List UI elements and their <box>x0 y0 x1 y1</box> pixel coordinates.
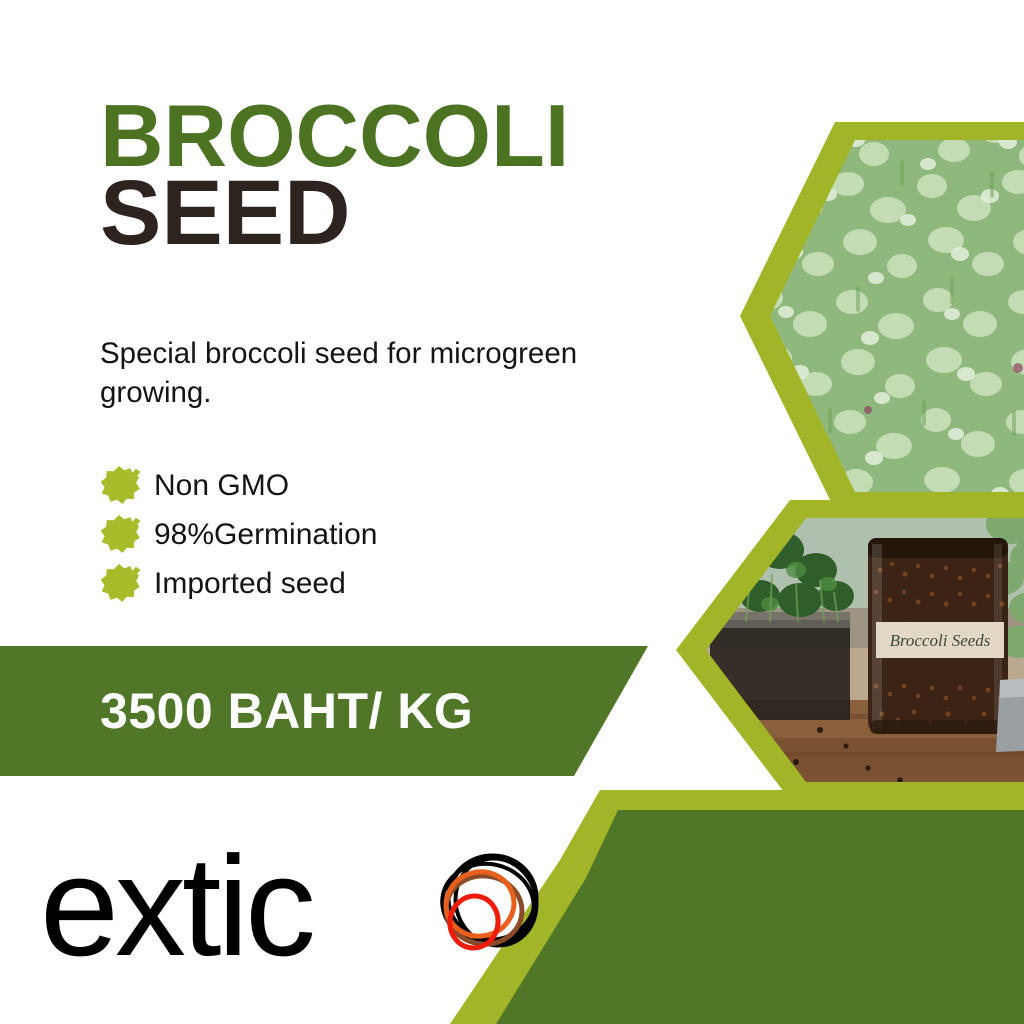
price-banner: 3500 BAHT/ KG <box>0 646 660 776</box>
feature-list: Non GMO 98%Germination Imported seed <box>96 462 616 609</box>
product-description: Special broccoli seed for microgreen gro… <box>100 334 690 412</box>
seed-jar-hexagon <box>676 500 1024 800</box>
brand-logo: extic <box>40 832 540 982</box>
check-badge-icon <box>96 513 142 557</box>
feature-label: 98%Germination <box>154 518 377 552</box>
price-label: 3500 BAHT/ KG <box>100 646 473 776</box>
list-item: Imported seed <box>96 560 616 608</box>
list-item: Non GMO <box>96 462 616 510</box>
list-item: 98%Germination <box>96 511 616 559</box>
feature-label: Imported seed <box>154 567 346 601</box>
logo-wordmark: extic <box>40 832 312 982</box>
microgreens-hexagon <box>740 122 1024 510</box>
check-badge-icon <box>96 562 142 606</box>
logo-scribble-o-icon <box>418 842 568 972</box>
poster-canvas: Broccoli Seeds <box>0 0 1024 1024</box>
page-title: BROCCOLI SEED <box>100 96 569 256</box>
feature-label: Non GMO <box>154 469 289 503</box>
check-badge-icon <box>96 464 142 508</box>
